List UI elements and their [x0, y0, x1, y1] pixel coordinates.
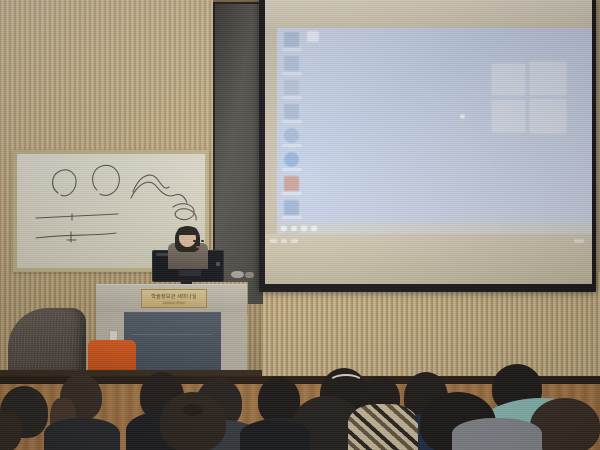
lecture-hall-photo: 학술정보관 세미나실 Seminar Room	[0, 0, 600, 450]
presenter-fringe	[177, 227, 198, 235]
tray-icon-1	[270, 239, 277, 243]
start-button[interactable]	[281, 226, 287, 231]
monitor-control-buttons[interactable]	[179, 270, 201, 276]
presenter-mouth	[196, 246, 202, 248]
sketch-arc-wave	[133, 175, 169, 192]
system-tray-clock	[574, 239, 584, 243]
desktop-icon-internet-explorer[interactable]	[281, 152, 307, 171]
taskbar-app-1[interactable]	[291, 226, 297, 231]
taskbar-app-2[interactable]	[301, 226, 307, 231]
desktop-icon-documents-folder[interactable]	[281, 80, 307, 99]
desktop-icon-presentation-app[interactable]	[281, 200, 307, 219]
desktop-icon-media-player[interactable]	[281, 128, 307, 147]
desktop-icon-my-computer[interactable]	[281, 56, 307, 75]
sketch-line-lower	[36, 233, 116, 238]
taskbar-app-3[interactable]	[311, 226, 317, 231]
lectern-nameplate: 학술정보관 세미나실 Seminar Room	[141, 289, 207, 308]
presenter-eye-left	[193, 240, 196, 242]
projection-top-band	[265, 0, 592, 30]
windows-desktop[interactable]	[277, 28, 592, 234]
desktop-icon-network[interactable]	[281, 104, 307, 123]
presenter	[168, 226, 208, 266]
tray-icon-3	[291, 239, 298, 243]
desktop-icon-pdf-reader[interactable]	[281, 176, 307, 195]
computer-mouse[interactable]	[231, 271, 244, 278]
sketch-oval-left	[53, 170, 77, 196]
audience-person-9	[160, 392, 226, 450]
projection-screen-surface	[265, 0, 592, 284]
sketch-oval-center	[93, 165, 120, 195]
desktop-icon-recycle-bin[interactable]	[281, 32, 307, 51]
desktop-icon-column[interactable]	[281, 32, 307, 234]
audience-person-2-shoulders	[44, 418, 120, 450]
plaid-scarf	[348, 404, 418, 450]
projection-bottom-band	[265, 234, 592, 284]
presenter-eye-right	[201, 240, 204, 242]
lectern-sign-subtext: Seminar Room	[142, 301, 206, 305]
lectern-right-side	[221, 312, 247, 370]
sketch-arc-wave-2	[131, 182, 187, 203]
lectern-front-panel	[124, 312, 221, 372]
windows-taskbar[interactable]	[277, 223, 592, 234]
screen-artifact-dot	[460, 114, 465, 119]
sketch-squiggle-loop	[173, 204, 196, 220]
audience-person-9-hairtie	[183, 404, 203, 416]
calculator-icon[interactable]	[307, 31, 319, 42]
audience-front-shoulders-a	[240, 420, 310, 450]
white-headband	[328, 374, 364, 392]
lectern-sign-text: 학술정보관 세미나실	[142, 290, 206, 301]
audience-front-shoulders-b	[452, 418, 542, 450]
windows-logo-watermark	[492, 62, 566, 136]
sketch-line-upper	[36, 214, 118, 218]
desk-accessory	[245, 272, 254, 278]
projection-screen	[259, 0, 596, 292]
tray-icon-2	[281, 239, 287, 243]
